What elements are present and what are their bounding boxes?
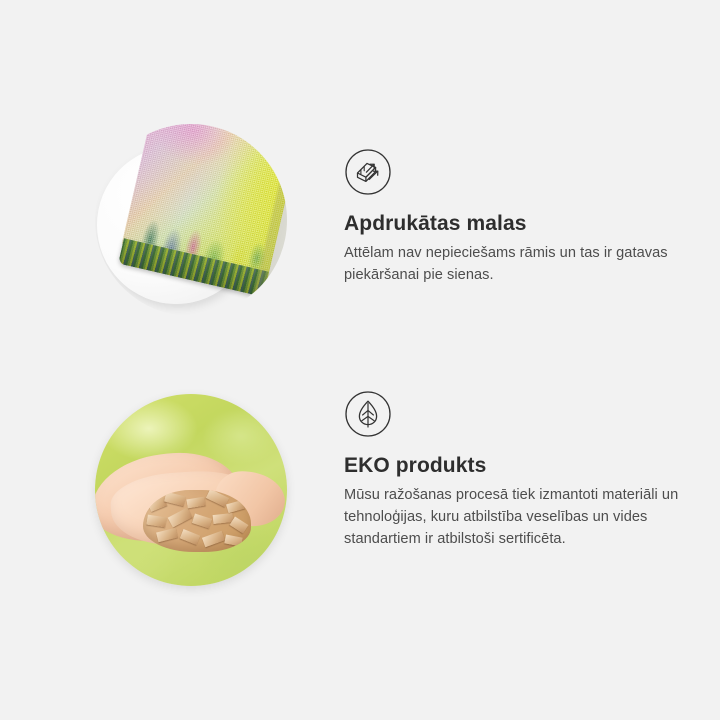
wood-chip bbox=[156, 528, 178, 543]
leaf-icon bbox=[345, 391, 391, 437]
wood-chip bbox=[226, 500, 245, 513]
hands-with-wood-chips-photo bbox=[95, 394, 287, 586]
printed-edges-title: Apdrukātas malas bbox=[344, 210, 688, 238]
canvas-wrapped-edges-icon bbox=[345, 149, 391, 195]
eco-product-text-block: EKO produkts Mūsu ražošanas procesā tiek… bbox=[344, 452, 688, 550]
wood-chip bbox=[192, 513, 212, 528]
wood-chip bbox=[180, 529, 200, 545]
wood-chip bbox=[202, 531, 225, 548]
eco-product-title: EKO produkts bbox=[344, 452, 688, 480]
wood-chip bbox=[164, 492, 186, 507]
wood-chip bbox=[146, 515, 166, 528]
canvas-print-corner-photo bbox=[95, 124, 287, 316]
eco-product-description: Mūsu ražošanas procesā tiek izmantoti ma… bbox=[344, 484, 688, 550]
wood-chip bbox=[224, 534, 242, 546]
product-features-panel: Apdrukātas malas Attēlam nav nepieciešam… bbox=[0, 0, 720, 720]
printed-edges-text-block: Apdrukātas malas Attēlam nav nepieciešam… bbox=[344, 210, 688, 286]
wood-chip bbox=[230, 516, 249, 533]
wood-chips-pile bbox=[143, 490, 251, 552]
hands-illustration bbox=[95, 446, 287, 550]
wood-chip bbox=[186, 497, 205, 509]
printed-edges-description: Attēlam nav nepieciešams rāmis un tas ir… bbox=[344, 242, 688, 286]
wood-chip bbox=[168, 507, 193, 527]
